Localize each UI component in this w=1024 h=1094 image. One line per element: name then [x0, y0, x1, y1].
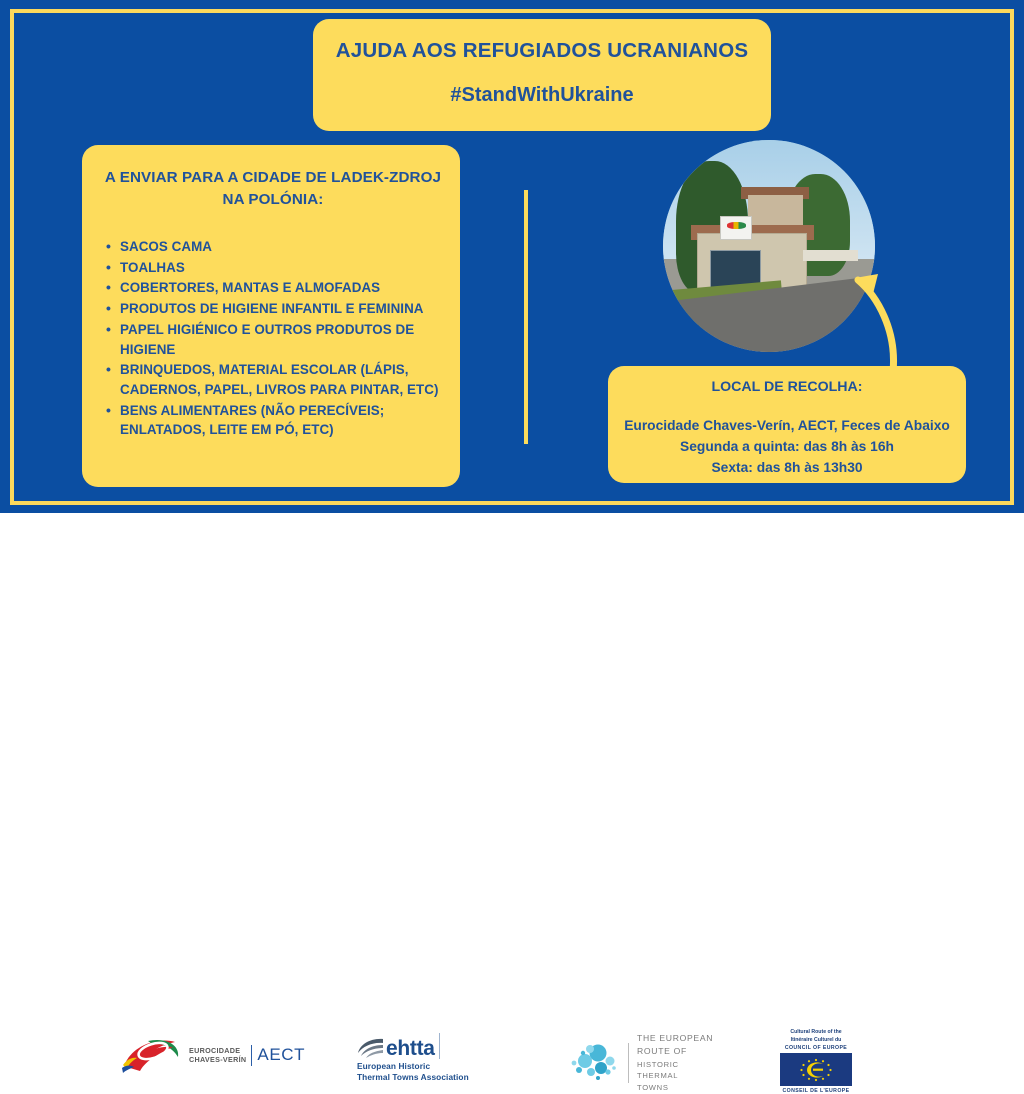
- poster-stage: AJUDA AOS REFUGIADOS UCRANIANOS #StandWi…: [0, 0, 1024, 513]
- coe-heading-line1: Cultural Route of the: [785, 1029, 847, 1037]
- route-line2: Route of: [637, 1045, 713, 1058]
- coe-heading: Cultural Route of the Itinéraire Culture…: [785, 1029, 847, 1052]
- eurocidade-name-line1: EUROCIDADE: [189, 1046, 246, 1055]
- eurocidade-name-line2: CHAVES-VERÍN: [189, 1055, 246, 1064]
- list-item: BRINQUEDOS, MATERIAL ESCOLAR (LÁPIS, CAD…: [104, 360, 442, 399]
- vertical-divider: [524, 190, 528, 444]
- photo-canopy: [803, 250, 858, 261]
- donation-items-list: SACOS CAMA TOALHAS COBERTORES, MANTAS E …: [104, 237, 442, 440]
- eurocidade-acronym: AECT: [257, 1045, 305, 1065]
- route-line1: The European: [637, 1032, 713, 1045]
- collection-point-address: Eurocidade Chaves-Verín, AECT, Feces de …: [620, 416, 954, 437]
- collection-point-hours-weekdays: Segunda a quinta: das 8h às 16h: [620, 437, 954, 458]
- ehtta-logo: ehtta European Historic Thermal Towns As…: [357, 1033, 469, 1083]
- route-line4: Thermal: [637, 1070, 713, 1082]
- ehtta-swoosh-icon: [357, 1037, 385, 1059]
- header-card: AJUDA AOS REFUGIADOS UCRANIANOS #StandWi…: [313, 19, 771, 131]
- route-line3: Historic: [637, 1059, 713, 1071]
- ehtta-wordmark-row: ehtta: [357, 1033, 440, 1059]
- photo-building-sign: [720, 216, 752, 239]
- curved-arrow-icon: [853, 252, 978, 377]
- list-item: PRODUTOS DE HIGIENE INFANTIL E FEMININA: [104, 299, 442, 319]
- eurocidade-mark-icon: [118, 1035, 184, 1075]
- list-item: PAPEL HIGIÉNICO E OUTROS PRODUTOS DE HIG…: [104, 320, 442, 359]
- page-title: AJUDA AOS REFUGIADOS UCRANIANOS: [336, 40, 748, 63]
- ehtta-subtitle-line1: European Historic: [357, 1061, 469, 1072]
- ehtta-divider: [439, 1033, 440, 1059]
- collection-point-photo: [663, 140, 875, 352]
- collection-point-hours-friday: Sexta: das 8h às 13h30: [620, 458, 954, 479]
- council-of-europe-logo: Cultural Route of the Itinéraire Culture…: [780, 1029, 852, 1094]
- donation-items-card: A ENVIAR PARA A CIDADE DE LADEK-ZDROJ NA…: [82, 145, 460, 487]
- ehtta-subtitle: European Historic Thermal Towns Associat…: [357, 1061, 469, 1083]
- route-line5: Towns: [637, 1082, 713, 1094]
- donation-items-heading: A ENVIAR PARA A CIDADE DE LADEK-ZDROJ NA…: [104, 167, 442, 211]
- coe-footer-text: CONSEIL DE L'EUROPE: [783, 1088, 850, 1094]
- poster-canvas: AJUDA AOS REFUGIADOS UCRANIANOS #StandWi…: [0, 0, 1024, 576]
- eurocidade-logo: EUROCIDADE CHAVES-VERÍN AECT: [118, 1035, 305, 1075]
- ehtta-subtitle-line2: Thermal Towns Association: [357, 1072, 469, 1083]
- list-item: COBERTORES, MANTAS E ALMOFADAS: [104, 278, 442, 298]
- hashtag-label: #StandWithUkraine: [450, 84, 633, 106]
- list-item: SACOS CAMA: [104, 237, 442, 257]
- route-divider: [628, 1043, 629, 1083]
- eurocidade-divider: [251, 1045, 252, 1066]
- footer-logo-bar: EUROCIDADE CHAVES-VERÍN AECT ehtta Europ…: [0, 513, 1024, 576]
- coe-heading-line2: Itinéraire Culturel du: [785, 1037, 847, 1045]
- list-item: BENS ALIMENTARES (NÃO PERECÍVEIS; ENLATA…: [104, 401, 442, 440]
- route-wordmark: The European Route of Historic Thermal T…: [637, 1032, 713, 1094]
- collection-point-card: LOCAL DE RECOLHA: Eurocidade Chaves-Verí…: [608, 366, 966, 483]
- coe-flag-icon: [780, 1053, 852, 1086]
- collection-point-title: LOCAL DE RECOLHA:: [620, 379, 954, 396]
- water-bubbles-icon: [568, 1041, 620, 1085]
- list-item: TOALHAS: [104, 258, 442, 278]
- coe-heading-line3: COUNCIL OF EUROPE: [785, 1045, 847, 1053]
- european-route-logo: The European Route of Historic Thermal T…: [568, 1032, 713, 1094]
- eurocidade-wordmark: EUROCIDADE CHAVES-VERÍN AECT: [189, 1045, 305, 1066]
- ehtta-wordmark: ehtta: [386, 1039, 435, 1059]
